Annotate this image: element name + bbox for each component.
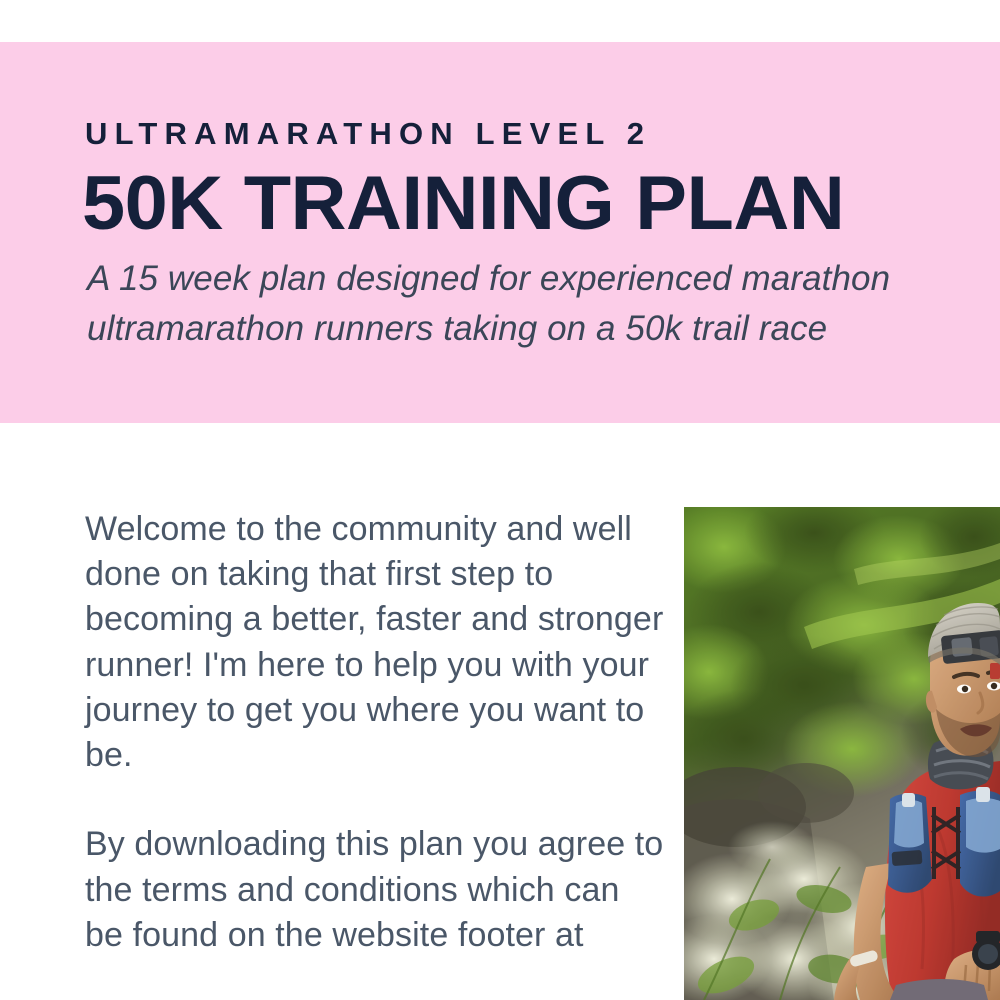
welcome-paragraph: Welcome to the community and well done o… [85, 507, 665, 778]
hero-banner: ULTRAMARATHON LEVEL 2 50K TRAINING PLAN … [0, 42, 1000, 423]
top-white-strip [0, 0, 1000, 42]
runner-photo-image [684, 507, 1000, 1000]
hero-content: ULTRAMARATHON LEVEL 2 50K TRAINING PLAN … [85, 42, 1000, 423]
page-title: 50K TRAINING PLAN [82, 166, 844, 242]
hero-subtitle: A 15 week plan designed for experienced … [87, 254, 1000, 353]
terms-paragraph: By downloading this plan you agree to th… [85, 822, 665, 958]
hero-eyebrow: ULTRAMARATHON LEVEL 2 [85, 118, 651, 149]
document-page: ULTRAMARATHON LEVEL 2 50K TRAINING PLAN … [0, 0, 1000, 1000]
body-text-column: Welcome to the community and well done o… [85, 507, 665, 958]
runner-photo [684, 507, 1000, 1000]
content-area: Welcome to the community and well done o… [0, 423, 1000, 1000]
